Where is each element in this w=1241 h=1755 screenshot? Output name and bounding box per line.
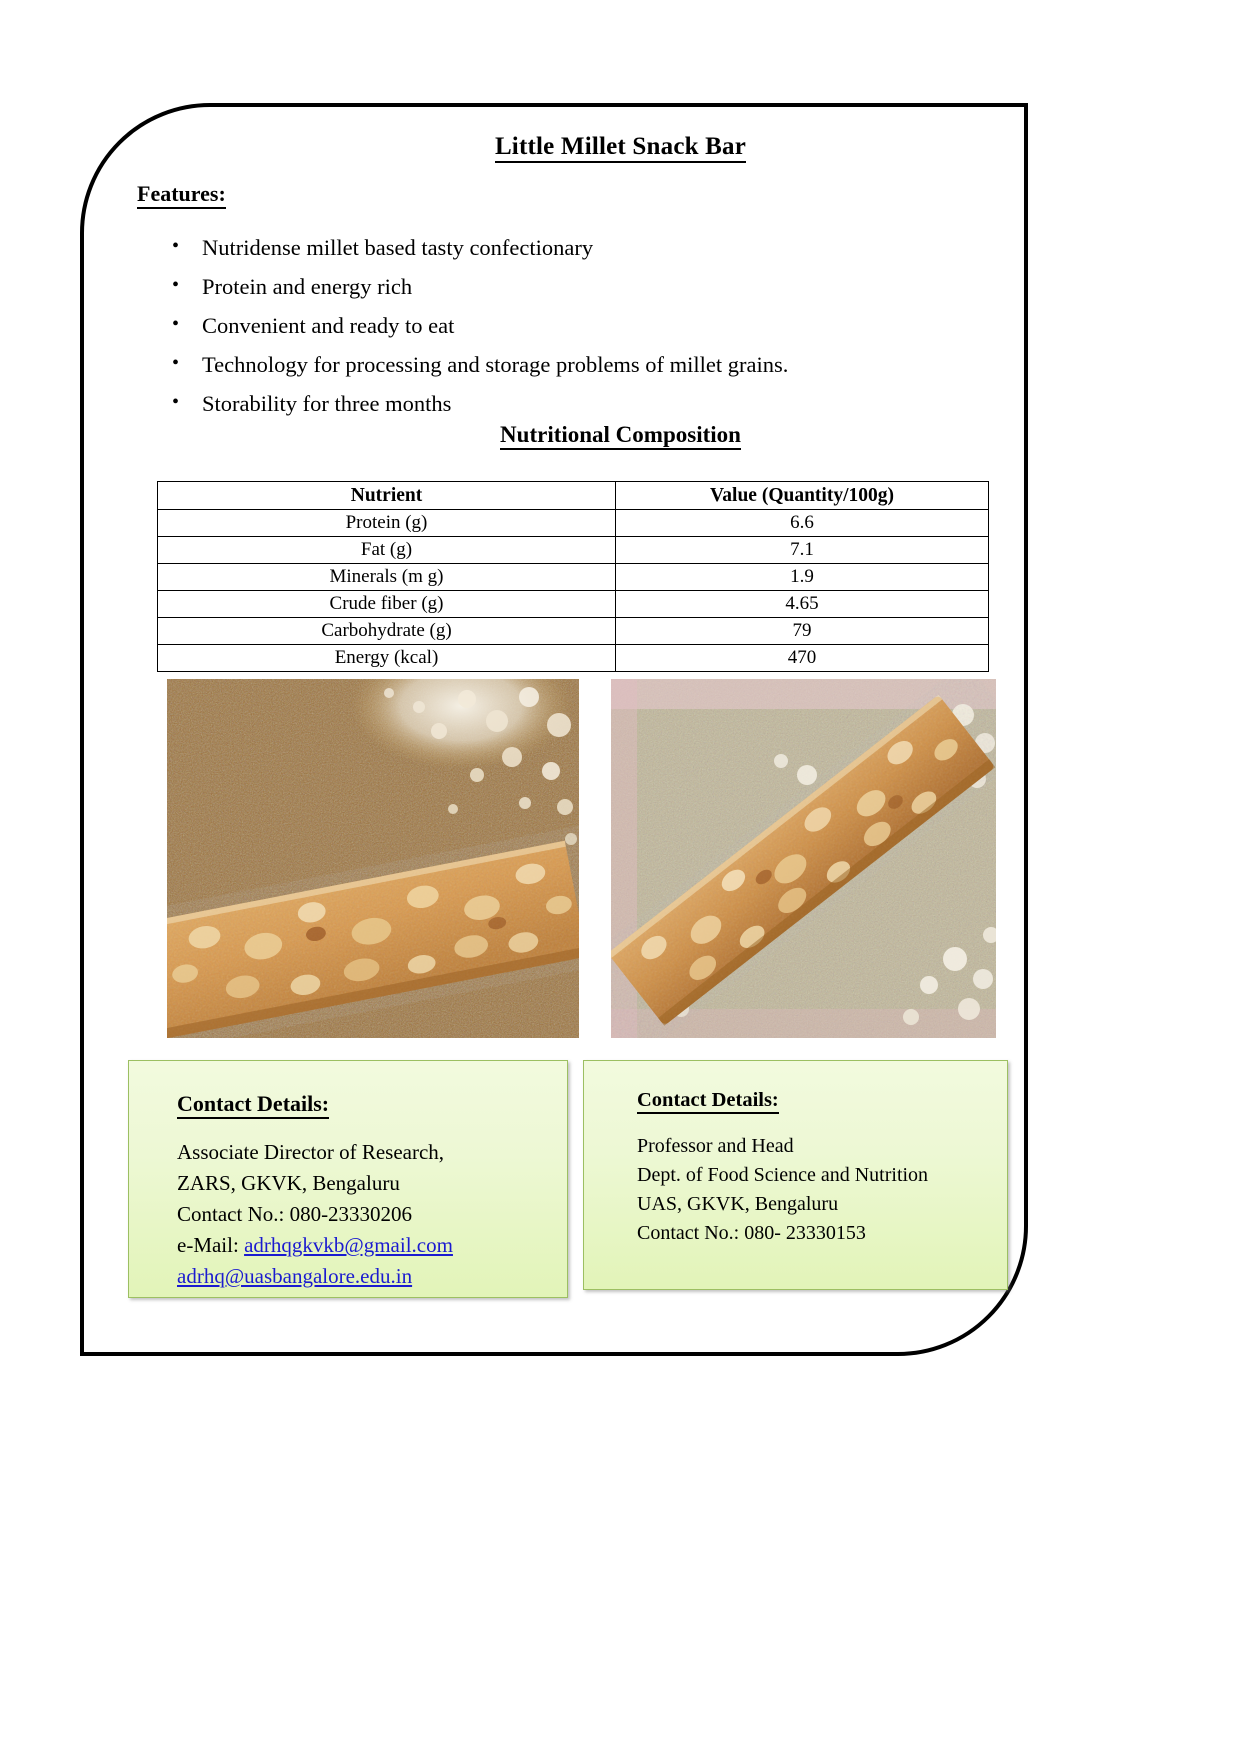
nutrition-section-title-text: Nutritional Composition [500, 422, 741, 450]
features-heading: Features: [137, 181, 226, 207]
contact-lines: Associate Director of Research, ZARS, GK… [177, 1137, 559, 1292]
page-title-text: Little Millet Snack Bar [495, 133, 746, 163]
cell-value: 1.9 [616, 564, 989, 591]
cell-nutrient: Carbohydrate (g) [158, 618, 616, 645]
features-list: Nutridense millet based tasty confection… [168, 228, 968, 423]
contact-heading: Contact Details: [177, 1091, 559, 1117]
page-title: Little Millet Snack Bar [0, 133, 1241, 161]
list-item: Technology for processing and storage pr… [168, 345, 968, 384]
product-photo-left-image [167, 679, 579, 1038]
list-item: Nutridense millet based tasty confection… [168, 228, 968, 267]
table-row: Energy (kcal) 470 [158, 645, 989, 672]
contact-heading-text: Contact Details: [177, 1091, 329, 1119]
feature-text: Technology for processing and storage pr… [202, 352, 788, 377]
list-item: Protein and energy rich [168, 267, 968, 306]
contact-box-right: Contact Details: Professor and Head Dept… [583, 1060, 1008, 1290]
table-header-row: Nutrient Value (Quantity/100g) [158, 482, 989, 510]
contact-line-email: e-Mail: adrhqgkvkb@gmail.com [177, 1230, 559, 1261]
nutrition-section-title: Nutritional Composition [0, 422, 1241, 448]
cell-nutrient: Protein (g) [158, 510, 616, 537]
cell-nutrient: Energy (kcal) [158, 645, 616, 672]
cell-value: 6.6 [616, 510, 989, 537]
contact-line-designation: Associate Director of Research, [177, 1137, 559, 1168]
email-link-gmail[interactable]: adrhqgkvkb@gmail.com [244, 1233, 453, 1257]
product-photo-left [167, 679, 579, 1038]
contact-line-email-alt: adrhq@uasbangalore.edu.in [177, 1261, 559, 1292]
contact-lines: Professor and Head Dept. of Food Science… [637, 1132, 999, 1248]
cell-value: 4.65 [616, 591, 989, 618]
contact-heading: Contact Details: [637, 1089, 999, 1112]
table-row: Carbohydrate (g) 79 [158, 618, 989, 645]
contact-line-phone: Contact No.: 080-23330206 [177, 1199, 559, 1230]
contact-heading-text: Contact Details: [637, 1089, 779, 1114]
cell-nutrient: Fat (g) [158, 537, 616, 564]
email-label: e-Mail: [177, 1233, 244, 1257]
contact-line-address: ZARS, GKVK, Bengaluru [177, 1168, 559, 1199]
product-photo-right [611, 679, 996, 1038]
feature-text: Protein and energy rich [202, 274, 412, 299]
feature-text: Convenient and ready to eat [202, 313, 454, 338]
cell-nutrient: Crude fiber (g) [158, 591, 616, 618]
contact-line-department: Dept. of Food Science and Nutrition [637, 1161, 999, 1190]
table-row: Crude fiber (g) 4.65 [158, 591, 989, 618]
contact-line-address: UAS, GKVK, Bengaluru [637, 1190, 999, 1219]
column-header-value: Value (Quantity/100g) [616, 482, 989, 510]
contact-box-left: Contact Details: Associate Director of R… [128, 1060, 568, 1298]
list-item: Storability for three months [168, 384, 968, 423]
cell-value: 470 [616, 645, 989, 672]
contact-line-designation: Professor and Head [637, 1132, 999, 1161]
table-row: Fat (g) 7.1 [158, 537, 989, 564]
product-photo-right-image [611, 679, 996, 1038]
table-row: Protein (g) 6.6 [158, 510, 989, 537]
features-heading-text: Features: [137, 181, 226, 209]
contact-line-phone: Contact No.: 080- 23330153 [637, 1219, 999, 1248]
feature-text: Nutridense millet based tasty confection… [202, 235, 593, 260]
table-row: Minerals (m g) 1.9 [158, 564, 989, 591]
list-item: Convenient and ready to eat [168, 306, 968, 345]
email-link-uas[interactable]: adrhq@uasbangalore.edu.in [177, 1264, 412, 1288]
column-header-nutrient: Nutrient [158, 482, 616, 510]
cell-value: 7.1 [616, 537, 989, 564]
cell-value: 79 [616, 618, 989, 645]
nutrition-table: Nutrient Value (Quantity/100g) Protein (… [157, 481, 989, 672]
feature-text: Storability for three months [202, 391, 451, 416]
cell-nutrient: Minerals (m g) [158, 564, 616, 591]
